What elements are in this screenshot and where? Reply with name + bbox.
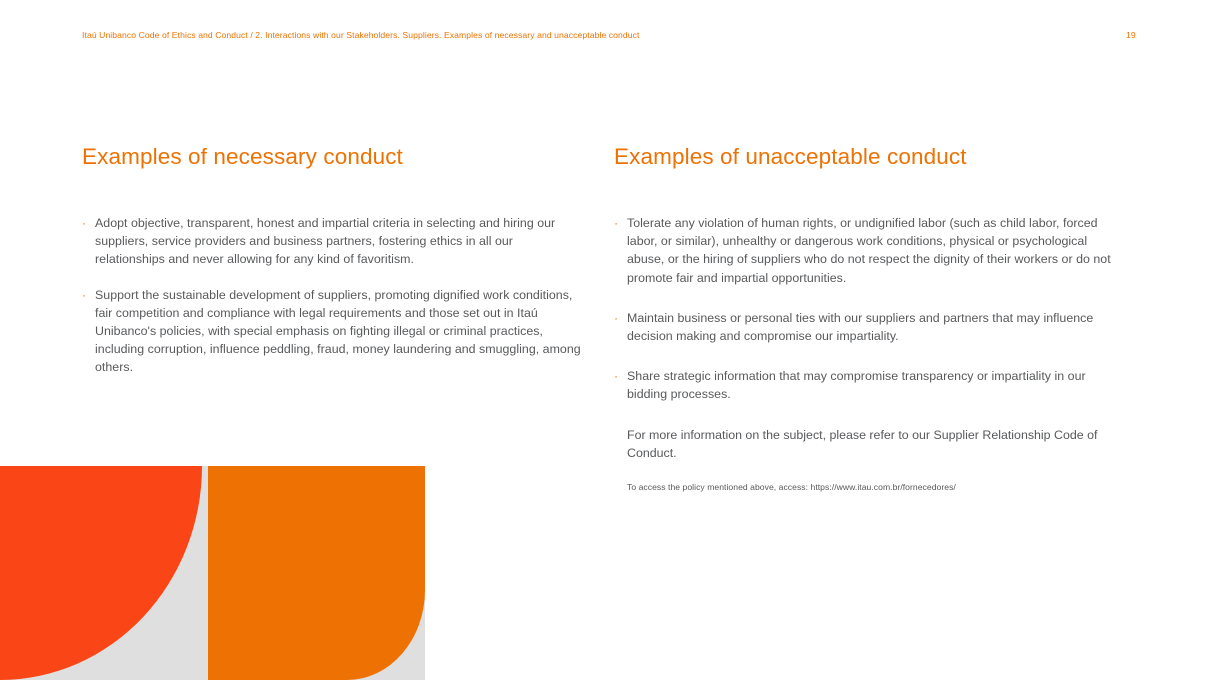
column-unacceptable-conduct: Examples of unacceptable conduct · Toler… <box>614 142 1114 502</box>
unacceptable-conduct-list: · Tolerate any violation of human rights… <box>614 214 1114 404</box>
bullet-icon: · <box>614 367 618 385</box>
bullet-icon: · <box>614 309 618 327</box>
decorative-orange-block <box>208 466 425 680</box>
list-item: · Adopt objective, transparent, honest a… <box>82 214 582 269</box>
decorative-brand-graphic <box>0 466 425 680</box>
list-item-text: Maintain business or personal ties with … <box>627 311 1093 343</box>
list-item: · Share strategic information that may c… <box>614 367 1114 403</box>
breadcrumb: Itaú Unibanco Code of Ethics and Conduct… <box>82 29 640 41</box>
page-number: 19 <box>1126 29 1136 41</box>
list-item-text: Tolerate any violation of human rights, … <box>627 216 1111 285</box>
bullet-icon: · <box>82 214 86 232</box>
list-item-text: Adopt objective, transparent, honest and… <box>95 216 555 266</box>
policy-access-footnote: To access the policy mentioned above, ac… <box>614 481 1114 493</box>
page-title-necessary: Examples of necessary conduct <box>82 142 582 172</box>
list-item: · Tolerate any violation of human rights… <box>614 214 1114 287</box>
list-item: · Support the sustainable development of… <box>82 286 582 377</box>
list-item-text: Support the sustainable development of s… <box>95 288 581 375</box>
bullet-icon: · <box>82 286 86 304</box>
page-title-unacceptable: Examples of unacceptable conduct <box>614 142 1114 172</box>
column-necessary-conduct: Examples of necessary conduct · Adopt ob… <box>82 142 582 377</box>
list-item-text: Share strategic information that may com… <box>627 369 1086 401</box>
bullet-icon: · <box>614 214 618 232</box>
list-item: · Maintain business or personal ties wit… <box>614 309 1114 345</box>
supplier-code-note: For more information on the subject, ple… <box>614 426 1114 462</box>
necessary-conduct-list: · Adopt objective, transparent, honest a… <box>82 214 582 377</box>
